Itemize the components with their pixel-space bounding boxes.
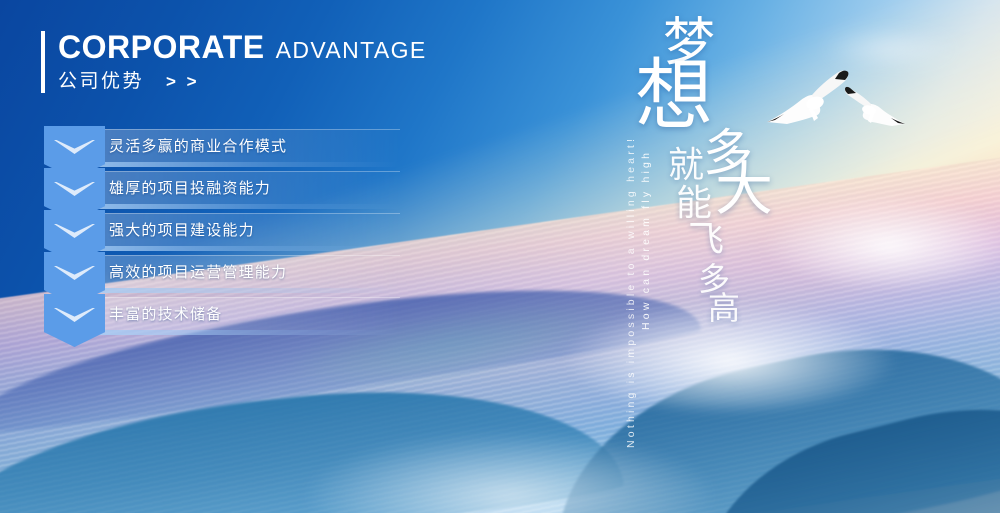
list-item-label: 灵活多赢的商业合作模式 — [109, 135, 287, 156]
title-keyword-main: CORPORATE — [58, 31, 265, 65]
list-item-label: 雄厚的项目投融资能力 — [109, 177, 271, 198]
double-chevron-right-icon: > > — [166, 72, 200, 92]
slogan-calligraphy: 梦 想 多 大 就 能 飞 多 高 How can dream fly high… — [600, 0, 860, 340]
corporate-advantage-banner: CORPORATE ADVANTAGE 公司优势 > > 灵活多赢的商业合作模式… — [0, 0, 1000, 513]
slogan-char-da: 大 — [715, 160, 773, 218]
list-item[interactable]: 高效的项目运营管理能力 — [44, 252, 404, 294]
advantage-list: 灵活多赢的商业合作模式 雄厚的项目投融资能力 强大的项目建设能力 高效的项目运营… — [44, 126, 404, 336]
slogan-char-gao: 高 — [708, 292, 740, 324]
title-chinese: 公司优势 — [58, 72, 144, 93]
title-keyword-sub: ADVANTAGE — [276, 38, 427, 62]
slogan-char-jiu: 就 — [668, 148, 704, 184]
slogan-english-line-1: How can dream fly high — [640, 140, 652, 330]
slogan-char-neng: 能 — [676, 186, 712, 222]
list-item[interactable]: 雄厚的项目投融资能力 — [44, 168, 404, 210]
list-item-label: 高效的项目运营管理能力 — [109, 261, 287, 282]
slogan-char-fei: 飞 — [688, 222, 724, 258]
title-accent-bar — [41, 31, 45, 93]
list-item-label: 丰富的技术储备 — [109, 303, 222, 324]
page-title: CORPORATE ADVANTAGE 公司优势 > > — [41, 31, 427, 93]
slogan-english-line-2: Nothing is impossible to a willing heart… — [625, 148, 637, 448]
list-item[interactable]: 强大的项目建设能力 — [44, 210, 404, 252]
list-item[interactable]: 灵活多赢的商业合作模式 — [44, 126, 404, 168]
list-item[interactable]: 丰富的技术储备 — [44, 294, 404, 336]
list-item-label: 强大的项目建设能力 — [109, 219, 255, 240]
slogan-char-xiang: 想 — [635, 57, 713, 135]
